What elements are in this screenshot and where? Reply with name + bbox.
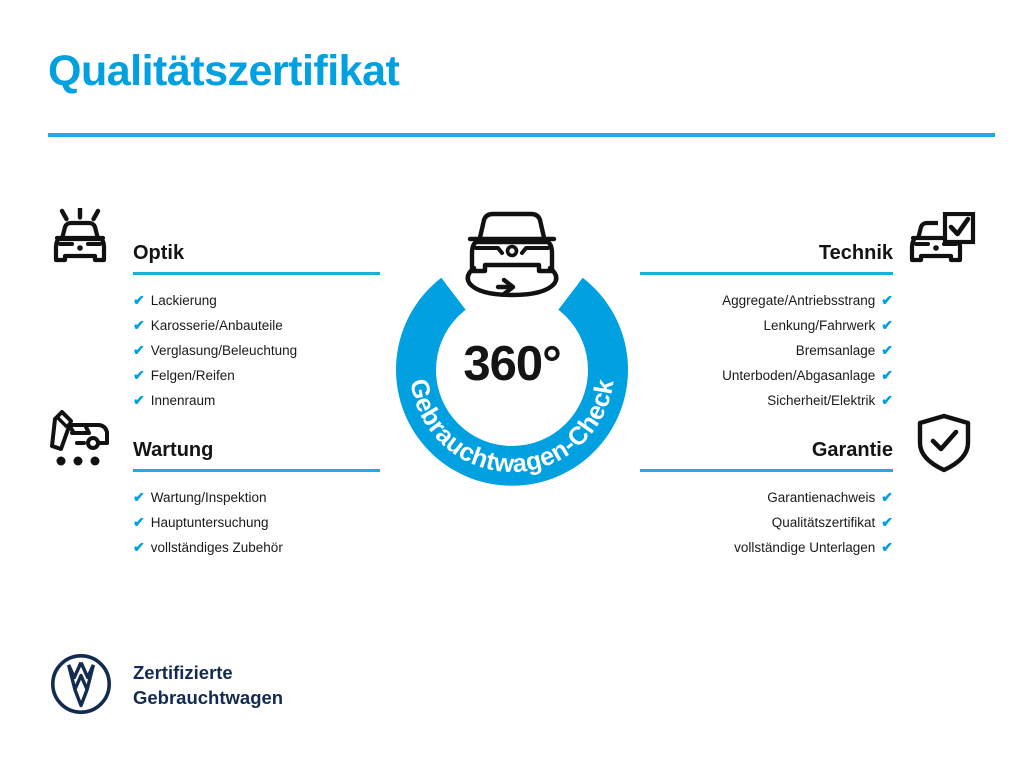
check-icon: ✔ [881, 388, 893, 412]
list-item-label: Unterboden/Abgasanlage [722, 364, 875, 388]
check-icon: ✔ [881, 535, 893, 559]
list-item-label: Innenraum [151, 389, 216, 413]
pencil-car-service-icon [48, 408, 112, 475]
list-item: vollständige Unterlagen✔ [640, 535, 893, 560]
vw-logo-icon [50, 653, 112, 715]
check-icon: ✔ [881, 288, 893, 312]
footer-brand-text: Zertifizierte Gebrauchtwagen [133, 660, 283, 710]
page-title: Qualitätszertifikat [48, 48, 399, 95]
section-technik-divider [640, 272, 893, 275]
list-item: ✔Hauptuntersuchung [133, 510, 380, 535]
list-item-label: vollständiges Zubehör [151, 536, 283, 560]
list-item: ✔Innenraum [133, 388, 380, 413]
section-wartung: Wartung ✔Wartung/Inspektion ✔Hauptunters… [133, 430, 380, 560]
car-front-headlights-icon [48, 208, 112, 275]
section-garantie: Garantie Garantienachweis✔ Qualitätszert… [640, 430, 893, 560]
check-icon: ✔ [133, 363, 145, 387]
list-item: ✔Karosserie/Anbauteile [133, 313, 380, 338]
section-garantie-header: Garantie [640, 430, 893, 472]
check-icon: ✔ [133, 485, 145, 509]
section-optik-title: Optik [133, 242, 184, 265]
list-item-label: Karosserie/Anbauteile [151, 314, 283, 338]
list-item: ✔Lackierung [133, 288, 380, 313]
section-garantie-list: Garantienachweis✔ Qualitätszertifikat✔ v… [640, 485, 893, 560]
check-icon: ✔ [881, 485, 893, 509]
section-wartung-divider [133, 469, 380, 472]
section-optik-list: ✔Lackierung ✔Karosserie/Anbauteile ✔Verg… [133, 288, 380, 413]
check-icon: ✔ [133, 338, 145, 362]
list-item: Unterboden/Abgasanlage✔ [640, 363, 893, 388]
list-item-label: Qualitätszertifikat [772, 511, 876, 535]
list-item: Lenkung/Fahrwerk✔ [640, 313, 893, 338]
check-icon: ✔ [881, 510, 893, 534]
section-wartung-title: Wartung [133, 439, 213, 462]
list-item: ✔Felgen/Reifen [133, 363, 380, 388]
list-item-label: Felgen/Reifen [151, 364, 235, 388]
footer-line-2: Gebrauchtwagen [133, 685, 283, 710]
list-item-label: Aggregate/Antriebsstrang [722, 289, 875, 313]
list-item-label: Sicherheit/Elektrik [767, 389, 875, 413]
car-front-checkbox-icon [908, 212, 976, 275]
list-item: Aggregate/Antriebsstrang✔ [640, 288, 893, 313]
list-item-label: vollständige Unterlagen [734, 536, 875, 560]
list-item: ✔Verglasung/Beleuchtung [133, 338, 380, 363]
section-technik-list: Aggregate/Antriebsstrang✔ Lenkung/Fahrwe… [640, 288, 893, 413]
list-item-label: Lackierung [151, 289, 217, 313]
section-technik-header: Technik [640, 233, 893, 275]
check-icon: ✔ [881, 313, 893, 337]
section-technik-title: Technik [819, 242, 893, 265]
list-item: ✔vollständiges Zubehör [133, 535, 380, 560]
check-icon: ✔ [133, 288, 145, 312]
check-icon: ✔ [881, 363, 893, 387]
section-optik-header: Optik [133, 233, 380, 275]
section-optik-divider [133, 272, 380, 275]
list-item-label: Hauptuntersuchung [151, 511, 269, 535]
car-rotate-360-icon [452, 198, 572, 300]
list-item-label: Garantienachweis [767, 486, 875, 510]
title-divider [48, 133, 995, 137]
list-item: Qualitätszertifikat✔ [640, 510, 893, 535]
check-icon: ✔ [881, 338, 893, 362]
section-garantie-divider [640, 469, 893, 472]
section-wartung-header: Wartung [133, 430, 380, 472]
shield-check-icon [915, 412, 973, 479]
footer-line-1: Zertifizierte [133, 660, 283, 685]
list-item: Bremsanlage✔ [640, 338, 893, 363]
badge-value: 360° [384, 336, 640, 392]
list-item: Sicherheit/Elektrik✔ [640, 388, 893, 413]
list-item: Garantienachweis✔ [640, 485, 893, 510]
list-item-label: Verglasung/Beleuchtung [151, 339, 297, 363]
list-item: ✔Wartung/Inspektion [133, 485, 380, 510]
section-garantie-title: Garantie [812, 439, 893, 462]
list-item-label: Bremsanlage [796, 339, 876, 363]
section-wartung-list: ✔Wartung/Inspektion ✔Hauptuntersuchung ✔… [133, 485, 380, 560]
check-icon: ✔ [133, 388, 145, 412]
check-icon: ✔ [133, 313, 145, 337]
check-icon: ✔ [133, 535, 145, 559]
list-item-label: Lenkung/Fahrwerk [763, 314, 875, 338]
section-optik: Optik ✔Lackierung ✔Karosserie/Anbauteile… [133, 233, 380, 413]
list-item-label: Wartung/Inspektion [151, 486, 267, 510]
section-technik: Technik Aggregate/Antriebsstrang✔ Lenkun… [640, 233, 893, 413]
check-icon: ✔ [133, 510, 145, 534]
